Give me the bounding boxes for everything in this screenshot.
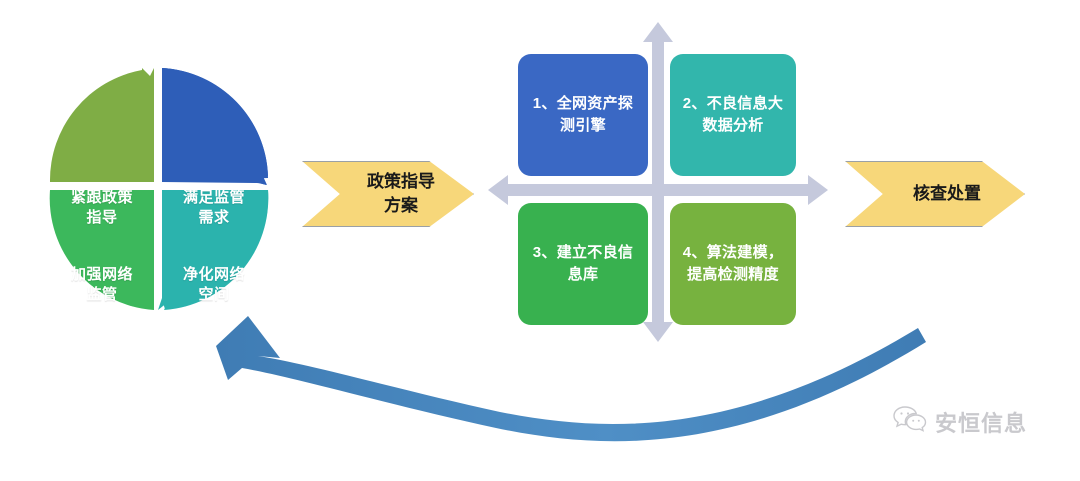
capability-box-3[interactable]: 3、建立不良信 息库 [518, 203, 648, 325]
wheel-quadrant-top-right-body [162, 68, 268, 182]
four-quadrant-wheel: 紧跟政策 指导 满足监管 需求 加强网络 监管 净化网络 空间 [46, 64, 270, 314]
capability-box-3-line2: 息库 [533, 264, 633, 286]
wheel-label-top-left: 紧跟政策 指导 [52, 188, 152, 229]
chevron-right-line1: 核查处置 [913, 182, 981, 206]
feedback-loop-arrow [170, 312, 940, 442]
wheel-label-bl-line2: 监管 [52, 285, 152, 305]
capability-box-1[interactable]: 1、全网资产探 测引擎 [518, 54, 648, 176]
feedback-loop-arrow-svg [170, 312, 940, 442]
wheel-label-tl-line1: 紧跟政策 [52, 188, 152, 208]
wheel-quadrant-top-left[interactable] [50, 68, 154, 182]
capability-box-2-line1: 2、不良信息大 [683, 93, 783, 115]
wheel-label-br-line1: 净化网络 [164, 265, 264, 285]
capability-box-3-line1: 3、建立不良信 [533, 242, 633, 264]
wheel-label-top-right: 满足监管 需求 [164, 188, 264, 229]
capability-box-1-line2: 测引擎 [533, 115, 633, 137]
capability-box-1-line1: 1、全网资产探 [533, 93, 633, 115]
policy-guidance-chevron[interactable]: 政策指导 方案 [302, 161, 474, 227]
wheel-label-bl-line1: 加强网络 [52, 265, 152, 285]
capability-box-2-line2: 数据分析 [683, 115, 783, 137]
wechat-icon [893, 405, 927, 438]
wheel-label-br-line2: 空间 [164, 285, 264, 305]
horizontal-double-arrow-shape [488, 175, 828, 205]
capability-box-4-line1: 4、算法建模， [683, 242, 783, 264]
wheel-label-bottom-left: 加强网络 监管 [52, 265, 152, 306]
chevron-left-line2: 方案 [367, 194, 435, 218]
capability-box-4-line2: 提高检测精度 [683, 264, 783, 286]
wechat-icon-svg [893, 405, 927, 433]
verification-disposal-chevron[interactable]: 核查处置 [845, 161, 1025, 227]
capability-box-4[interactable]: 4、算法建模， 提高检测精度 [670, 203, 796, 325]
wheel-label-tr-line1: 满足监管 [164, 188, 264, 208]
feedback-arrow-shape [216, 316, 926, 441]
wheel-label-tr-line2: 需求 [164, 208, 264, 228]
diagram-canvas: 紧跟政策 指导 满足监管 需求 加强网络 监管 净化网络 空间 政策指导 方案 [0, 0, 1080, 481]
capability-box-2[interactable]: 2、不良信息大 数据分析 [670, 54, 796, 176]
wheel-label-bottom-right: 净化网络 空间 [164, 265, 264, 306]
watermark-text: 安恒信息 [935, 406, 1027, 438]
chevron-left-line1: 政策指导 [367, 170, 435, 194]
wheel-label-tl-line2: 指导 [52, 208, 152, 228]
watermark: 安恒信息 [893, 405, 1027, 438]
